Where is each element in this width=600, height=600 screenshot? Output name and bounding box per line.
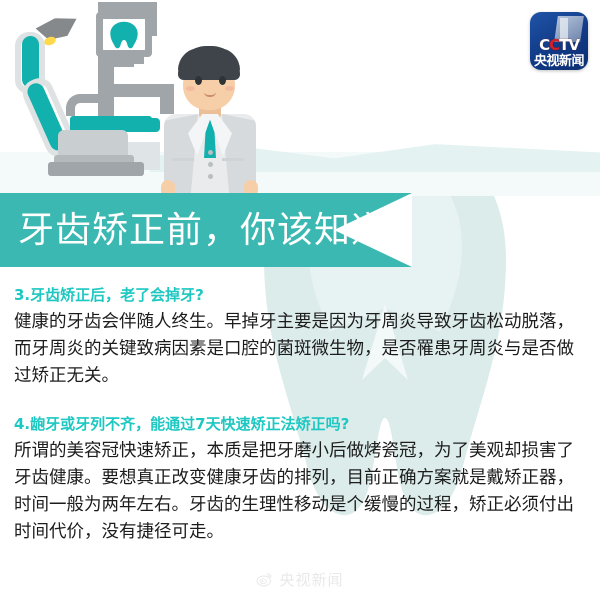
- coat-pocket-right: [222, 158, 244, 161]
- section-3-body: 健康的牙齿会伴随人终生。早掉牙主要是因为牙周炎导致牙齿松动脱落，而牙周炎的关键致…: [14, 309, 586, 390]
- weibo-watermark-text: 央视新闻: [279, 569, 343, 590]
- monitor-screen: [96, 12, 152, 57]
- cctv-logo[interactable]: CCTV 央视新闻: [530, 12, 588, 70]
- poster-root: 牙齿矫正前，你该知道 3.牙齿矫正后，老了会掉牙? 健康的牙齿会伴随人终生。早掉…: [0, 0, 600, 600]
- chair-headrest: [66, 94, 114, 116]
- coat-button: [208, 174, 213, 179]
- section-4-body: 所谓的美容冠快速矫正，本质是把牙磨小后做烤瓷冠，为了美观却损害了牙齿健康。要想真…: [14, 438, 586, 546]
- page-title: 牙齿矫正前，你该知道: [18, 203, 388, 259]
- dental-clinic-illustration: [0, 0, 600, 196]
- dentist-eye-right: [219, 76, 226, 85]
- dentist-hair-top: [178, 48, 240, 70]
- dentist-eyebrow-left: [193, 70, 204, 73]
- monitor-foot: [112, 57, 134, 67]
- coat-pocket-left: [172, 158, 194, 161]
- weibo-icon: [256, 571, 273, 588]
- dentist-eye-left: [195, 76, 202, 85]
- article-content: 3.牙齿矫正后，老了会掉牙? 健康的牙齿会伴随人终生。早掉牙主要是因为牙周炎导致…: [0, 283, 600, 546]
- tooth-icon: [103, 19, 145, 50]
- dentist-blush-right: [225, 86, 234, 91]
- coat-button: [208, 150, 213, 155]
- dentist-blush-left: [186, 86, 195, 91]
- weibo-watermark: 央视新闻: [0, 569, 600, 590]
- section-4: 4.龅牙或牙列不齐，能通过7天快速矫正法矫正吗? 所谓的美容冠快速矫正，本质是把…: [0, 412, 600, 546]
- dentist-eyebrow-right: [217, 70, 228, 73]
- coat-button: [208, 162, 213, 167]
- section-3: 3.牙齿矫正后，老了会掉牙? 健康的牙齿会伴随人终生。早掉牙主要是因为牙周炎导致…: [0, 283, 600, 390]
- section-3-heading: 3.牙齿矫正后，老了会掉牙?: [14, 283, 586, 307]
- cctv-sub-label: 央视新闻: [530, 50, 588, 69]
- section-4-heading: 4.龅牙或牙列不齐，能通过7天快速矫正法矫正吗?: [14, 412, 586, 436]
- chair-bottom-plate: [48, 162, 144, 176]
- dentist-figure: [150, 46, 270, 196]
